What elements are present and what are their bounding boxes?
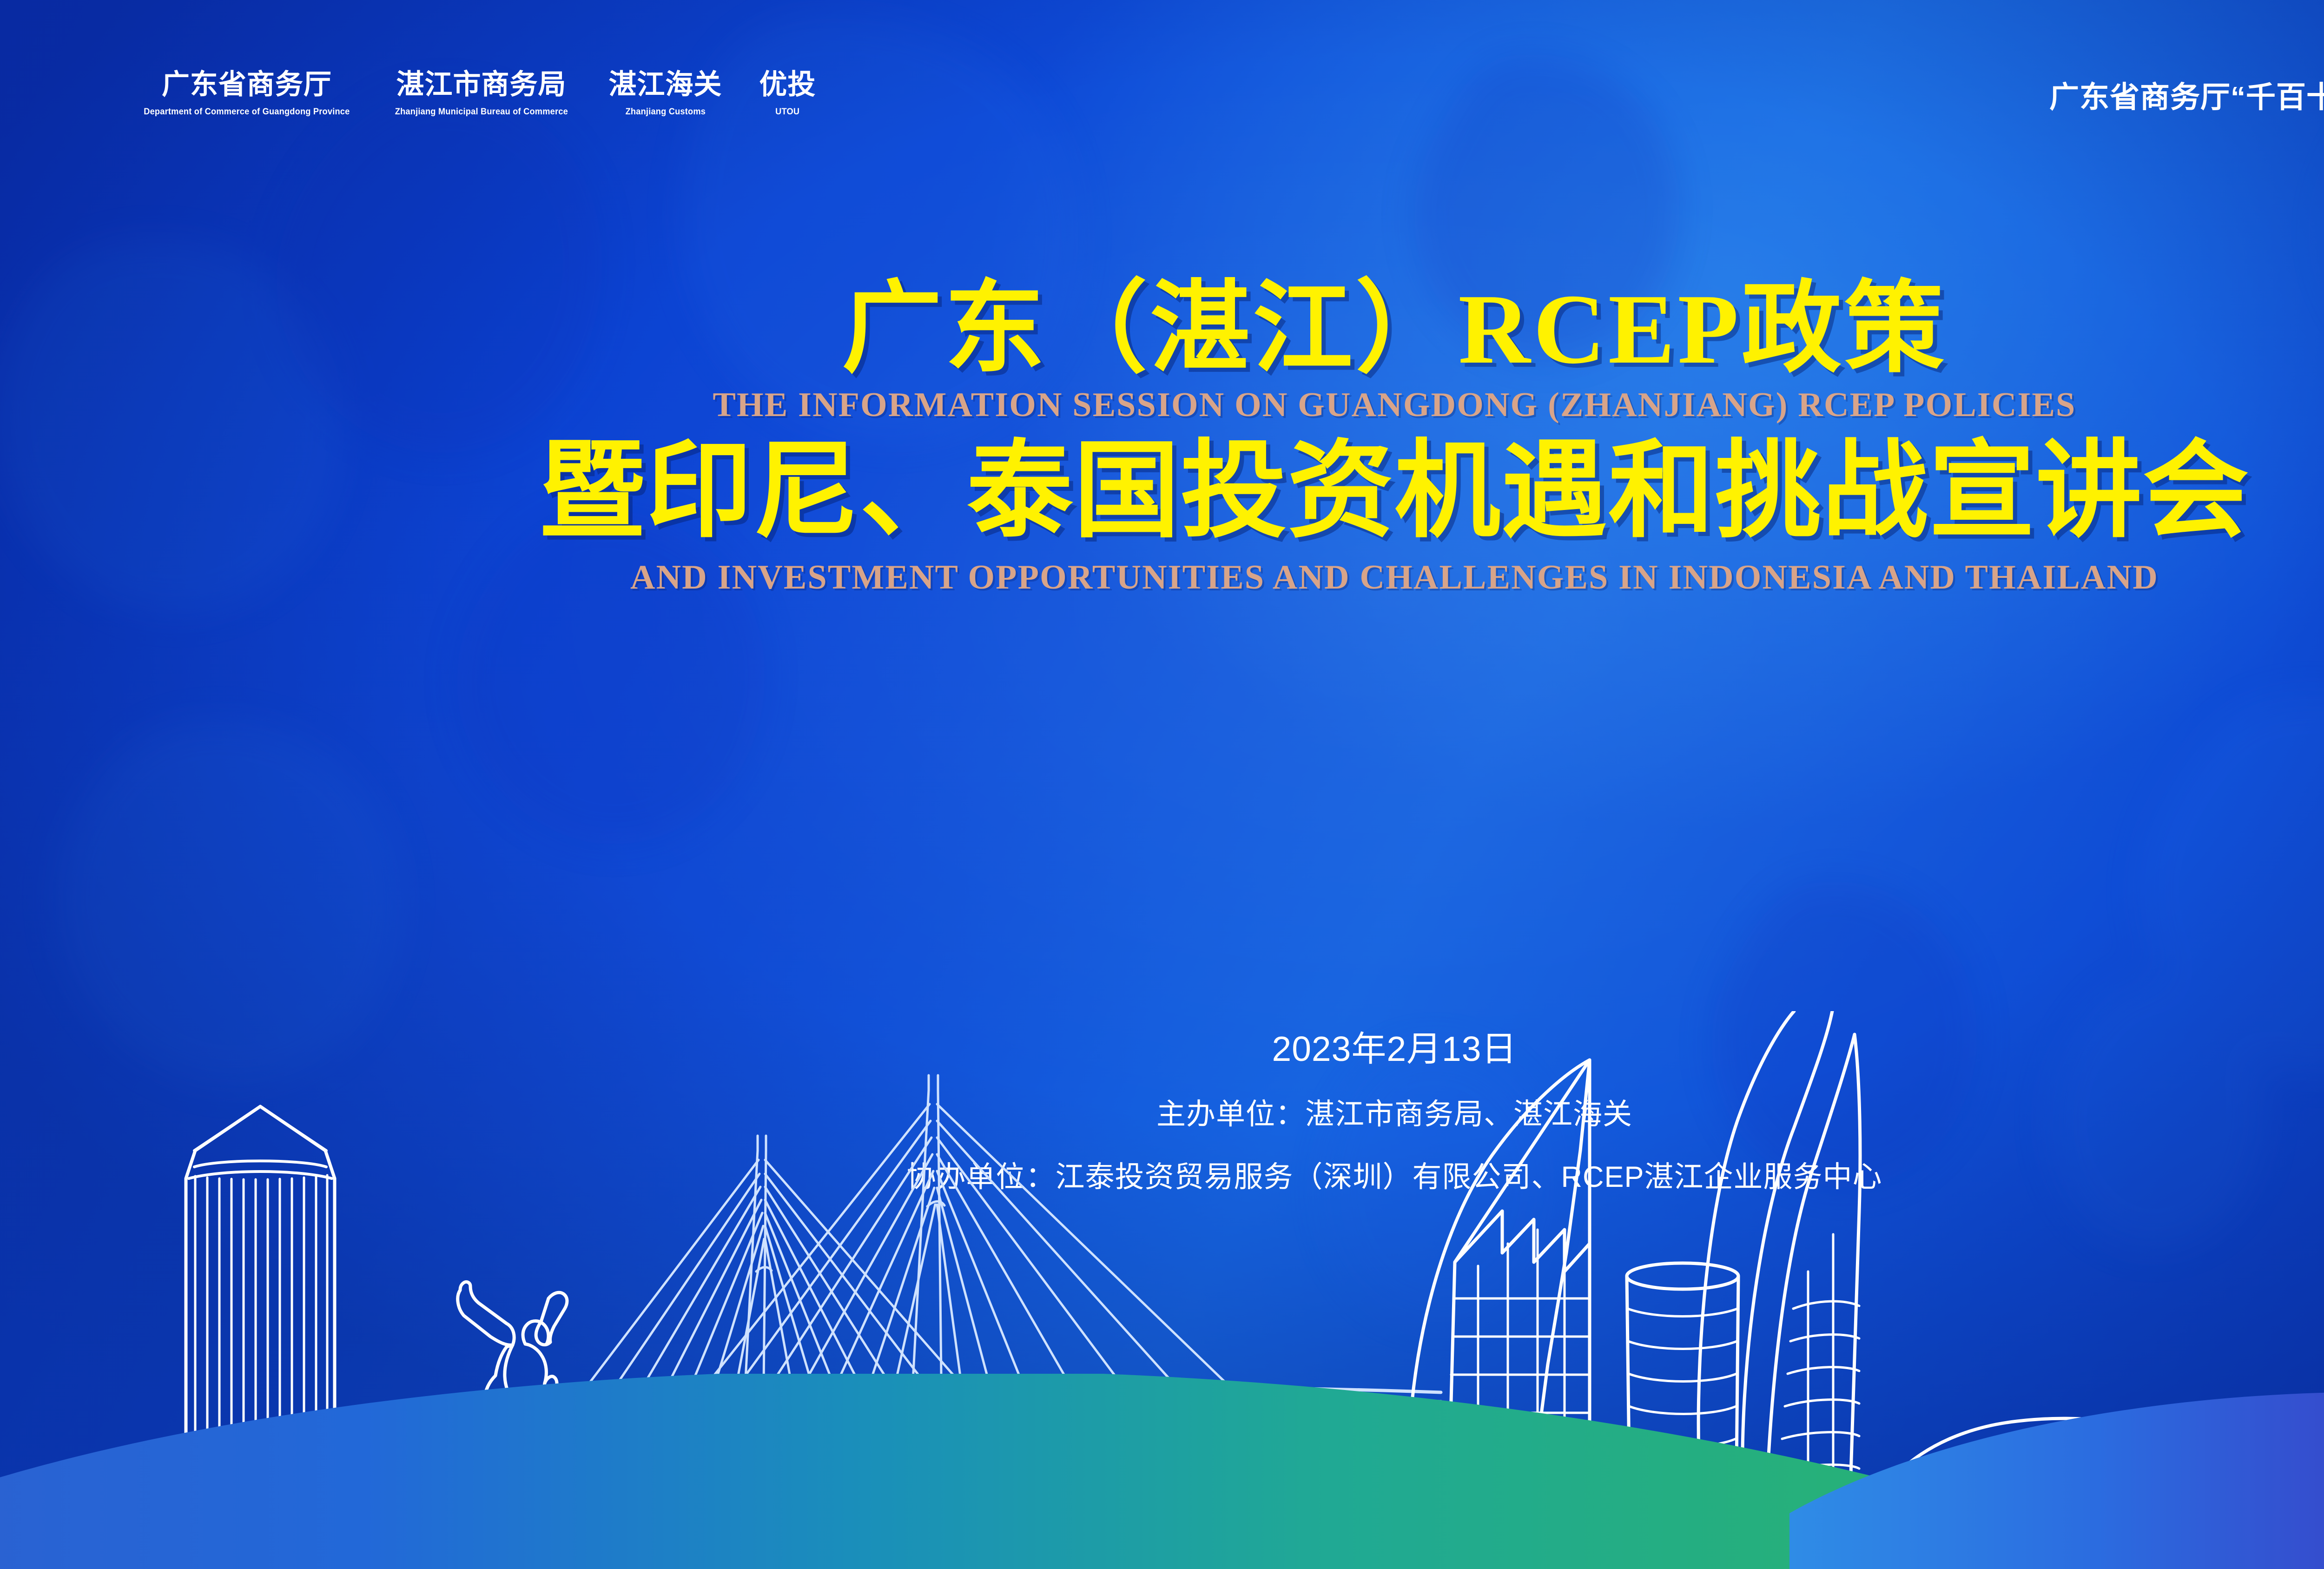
arch-bridge-icon [1887,1417,2324,1562]
logo-en-label: Zhanjiang Customs [625,107,706,117]
stadium-dome-icon [1864,1418,2291,1569]
logo-cn-label: 优投 [759,70,816,99]
logo-cn-label: 湛江海关 [608,70,722,99]
logo-cn-label: 湛江市商务局 [396,70,567,99]
header-series-label: 广东省商务厅“千百十”综合服务项目系列培训 [2049,73,2324,116]
city-skyline-illustration [0,1011,2324,1569]
logo-en-label: Department of Commerce of Guangdong Prov… [144,107,350,117]
title-chinese-line-2: 暨印尼、泰国投资机遇和挑战宣讲会 [0,438,2324,544]
title-block: 广东（湛江）RCEP政策 THE INFORMATION SESSION ON … [0,279,2324,597]
title-english-line-1: THE INFORMATION SESSION ON GUANGDONG (ZH… [0,385,2324,425]
title-english-line-2: AND INVESTMENT OPPORTUNITIES AND CHALLEN… [0,558,2324,597]
sail-tower-icon [1408,1060,1590,1569]
logo-zhanjiang-bureau: 湛江市商务局 Zhanjiang Municipal Bureau of Com… [391,70,572,117]
logo-utou: 优投 UTOU [759,70,816,117]
logo-en-label: Zhanjiang Municipal Bureau of Commerce [395,107,568,117]
logo-guangdong-commerce: 广东省商务厅 Department of Commerce of Guangdo… [139,70,354,117]
poster-header: 广东省商务厅 Department of Commerce of Guangdo… [0,0,2324,172]
poster-canvas: 广东省商务厅 Department of Commerce of Guangdo… [0,0,2324,1569]
logo-zhanjiang-customs: 湛江海关 Zhanjiang Customs [608,70,722,117]
logo-cn-label: 广东省商务厅 [162,70,332,99]
logo-en-label: UTOU [775,107,799,117]
cylindrical-tower-icon [1627,1263,1738,1564]
logo-row: 广东省商务厅 Department of Commerce of Guangdo… [139,70,816,117]
rock-plinth-icon [1771,1498,1870,1569]
title-chinese-line-1: 广东（湛江）RCEP政策 [0,279,2324,379]
twin-spire-tower-icon [1698,1011,1860,1504]
cable-stayed-bridge-icon [0,1075,1441,1546]
statue-figure-icon [458,1282,567,1536]
